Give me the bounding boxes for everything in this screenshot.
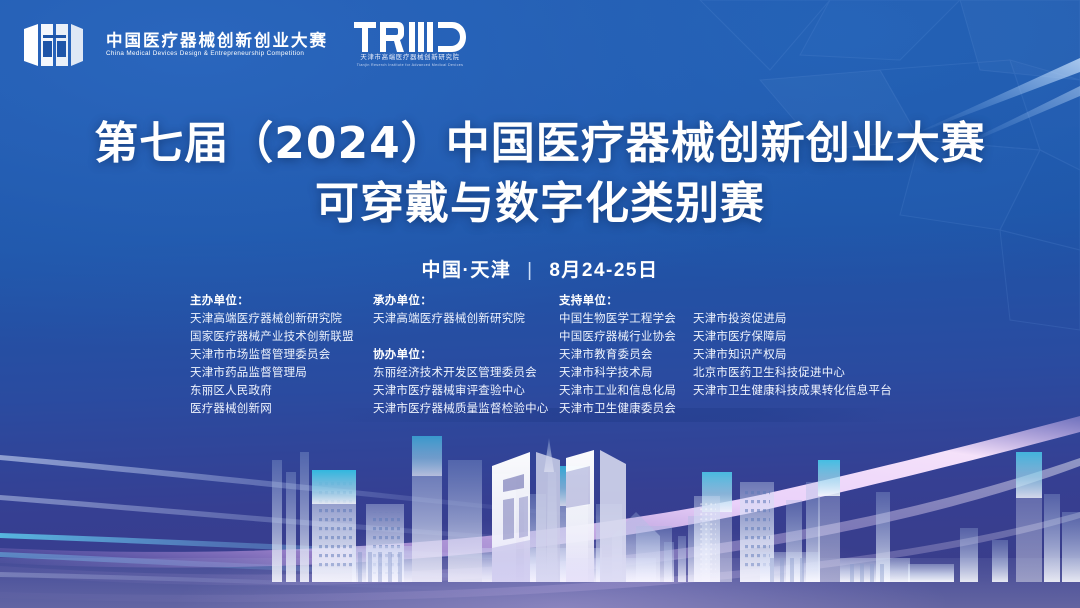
org-item: 天津市教育委员会 xyxy=(559,346,693,364)
org-item: 天津市投资促进局 xyxy=(693,310,892,328)
header-logos: 中国医疗器械创新创业大赛 China Medical Devices Desig… xyxy=(22,22,466,68)
org-item: 医疗器械创新网 xyxy=(190,400,373,418)
org-item: 天津高端医疗器械创新研究院 xyxy=(373,310,559,328)
organizers-column-organizer: 承办单位： 天津高端医疗器械创新研究院 协办单位： 东丽经济技术开发区管理委员会… xyxy=(373,292,559,418)
spacer xyxy=(373,328,559,346)
org-heading: 主办单位： xyxy=(190,292,373,310)
title-line-2: 可穿戴与数字化类别赛 xyxy=(0,178,1080,230)
door-window-logo-icon xyxy=(22,23,84,67)
org-item: 天津高端医疗器械创新研究院 xyxy=(190,310,373,328)
competition-logo-cn: 中国医疗器械创新创业大赛 xyxy=(106,33,328,50)
title-line-1: 第七届（2024）中国医疗器械创新创业大赛 xyxy=(0,118,1080,170)
org-item: 天津市医疗器械审评查验中心 xyxy=(373,382,559,400)
org-item: 中国医疗器械行业协会 xyxy=(559,328,693,346)
institute-logo: 天津市高端医疗器械创新研究院 Tianjin Reserch Institute… xyxy=(354,22,466,68)
organizers-block: 主办单位： 天津高端医疗器械创新研究院 国家医疗器械产业技术创新联盟 天津市市场… xyxy=(190,292,930,418)
org-item: 东丽经济技术开发区管理委员会 xyxy=(373,364,559,382)
organizers-column-support-b: 天津市投资促进局 天津市医疗保障局 天津市知识产权局 北京市医药卫生科技促进中心… xyxy=(693,292,892,400)
org-item: 天津市知识产权局 xyxy=(693,346,892,364)
competition-logo-en: China Medical Devices Design & Entrepren… xyxy=(106,51,332,57)
org-item: 天津市科学技术局 xyxy=(559,364,693,382)
institute-logo-cn: 天津市高端医疗器械创新研究院 xyxy=(360,55,459,61)
org-item: 天津市卫生健康科技成果转化信息平台 xyxy=(693,382,892,400)
org-item: 国家医疗器械产业技术创新联盟 xyxy=(190,328,373,346)
triid-wordmark-icon xyxy=(354,22,466,52)
org-item: 天津市医疗器械质量监督检验中心 xyxy=(373,400,559,418)
org-item: 中国生物医学工程学会 xyxy=(559,310,693,328)
org-item: 天津市药品监督管理局 xyxy=(190,364,373,382)
city-skyline-silhouette xyxy=(0,408,1080,608)
org-item: 天津市工业和信息化局 xyxy=(559,382,693,400)
event-location: 中国·天津 xyxy=(422,260,512,281)
organizers-column-host: 主办单位： 天津高端医疗器械创新研究院 国家医疗器械产业技术创新联盟 天津市市场… xyxy=(190,292,373,418)
org-item: 天津市市场监督管理委员会 xyxy=(190,346,373,364)
org-heading: 承办单位： xyxy=(373,292,559,310)
org-heading: 支持单位： xyxy=(559,292,693,310)
poster-canvas: 中国医疗器械创新创业大赛 China Medical Devices Desig… xyxy=(0,0,1080,608)
institute-logo-en: Tianjin Reserch Institute for Advanced M… xyxy=(357,64,463,68)
org-item: 天津市卫生健康委员会 xyxy=(559,400,693,418)
poster-title: 第七届（2024）中国医疗器械创新创业大赛 可穿戴与数字化类别赛 xyxy=(0,118,1080,230)
org-item: 天津市医疗保障局 xyxy=(693,328,892,346)
org-heading: 协办单位： xyxy=(373,346,559,364)
event-subtitle: 中国·天津 | 8月24-25日 xyxy=(0,255,1080,282)
event-date: 8月24-25日 xyxy=(549,260,658,281)
organizers-column-support-a: 支持单位： 中国生物医学工程学会 中国医疗器械行业协会 天津市教育委员会 天津市… xyxy=(559,292,693,418)
org-item: 东丽区人民政府 xyxy=(190,382,373,400)
subtitle-separator: | xyxy=(518,260,542,282)
org-item: 北京市医药卫生科技促进中心 xyxy=(693,364,892,382)
